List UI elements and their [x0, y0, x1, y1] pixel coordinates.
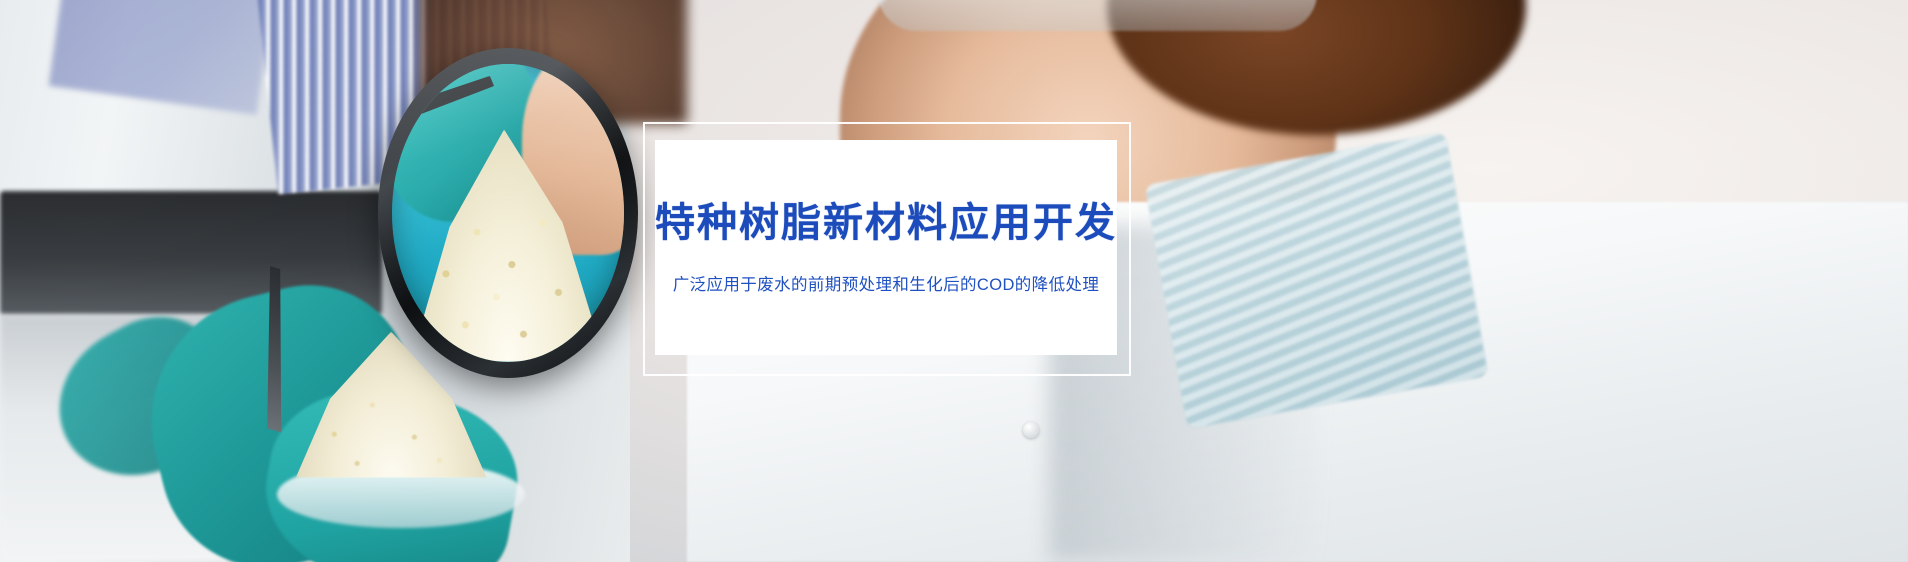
banner-subtitle: 广泛应用于废水的前期预处理和生化后的COD的降低处理: [673, 271, 1100, 295]
hero-banner: 特种树脂新材料应用开发 广泛应用于废水的前期预处理和生化后的COD的降低处理: [0, 0, 1908, 562]
magnifier-glass: [392, 64, 624, 362]
magnifier-lens-icon: [378, 48, 638, 378]
banner-title: 特种树脂新材料应用开发: [655, 201, 1117, 245]
safety-goggles-icon: [878, 0, 1317, 31]
labcoat-button-icon: [1023, 422, 1039, 438]
banner-content-card: 特种树脂新材料应用开发 广泛应用于废水的前期预处理和生化后的COD的降低处理: [655, 140, 1117, 355]
